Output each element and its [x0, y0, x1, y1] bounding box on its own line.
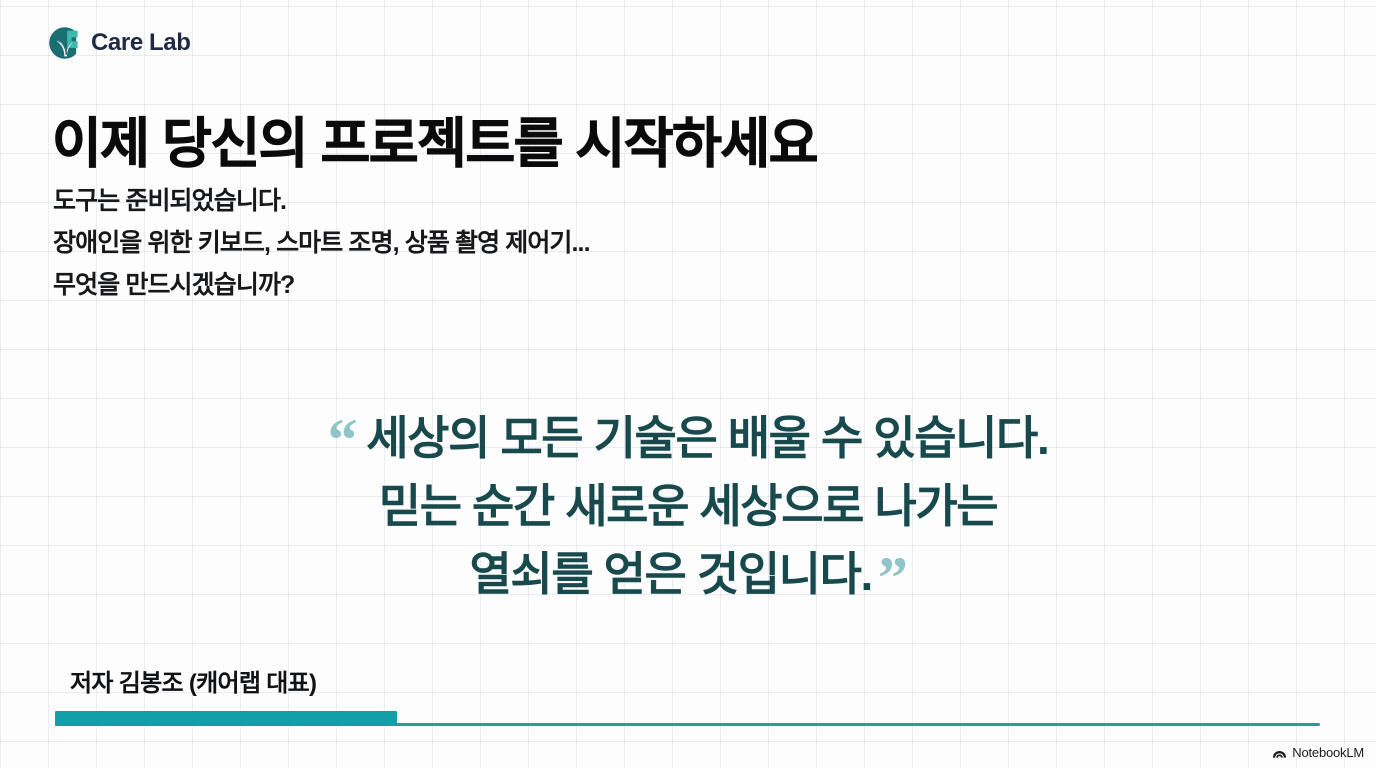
- slide-canvas: Care Lab 이제 당신의 프로젝트를 시작하세요 도구는 준비되었습니다.…: [0, 0, 1376, 768]
- subtitle-line-2: 장애인을 위한 키보드, 스마트 조명, 상품 촬영 제어기...: [53, 222, 590, 264]
- quote-line-1-text: 세상의 모든 기술은 배울 수 있습니다.: [366, 412, 1048, 464]
- subtitle-line-3: 무엇을 만드시겠습니까?: [53, 264, 590, 306]
- page-title: 이제 당신의 프로젝트를 시작하세요: [52, 114, 817, 174]
- notebooklm-watermark: NotebookLM: [1272, 745, 1364, 760]
- notebooklm-label: NotebookLM: [1292, 746, 1364, 759]
- quote-line-1: “세상의 모든 기술은 배울 수 있습니다.: [40, 404, 1336, 472]
- quote-line-2: 믿는 순간 새로운 세상으로 나가는: [40, 472, 1336, 540]
- subtitle-line-1: 도구는 준비되었습니다.: [53, 180, 590, 222]
- quote-close-mark-icon: ”: [878, 545, 907, 611]
- slide-content: Care Lab 이제 당신의 프로젝트를 시작하세요 도구는 준비되었습니다.…: [0, 0, 1376, 768]
- progress-fill: [55, 711, 397, 726]
- quote-block: “세상의 모든 기술은 배울 수 있습니다. 믿는 순간 새로운 세상으로 나가…: [40, 404, 1336, 608]
- leaf-circle-logo-icon: [48, 26, 82, 60]
- brand-name: Care Lab: [91, 31, 191, 55]
- quote-line-3: 열쇠를 얻은 것입니다.”: [40, 540, 1336, 608]
- brand-lockup: Care Lab: [48, 26, 191, 60]
- notebooklm-spiral-icon: [1272, 745, 1287, 760]
- quote-open-mark-icon: “: [328, 407, 357, 473]
- author-credit: 저자 김봉조 (캐어랩 대표): [70, 663, 316, 698]
- subtitle-block: 도구는 준비되었습니다. 장애인을 위한 키보드, 스마트 조명, 상품 촬영 …: [53, 180, 590, 306]
- quote-line-3-text: 열쇠를 얻은 것입니다.: [469, 548, 871, 600]
